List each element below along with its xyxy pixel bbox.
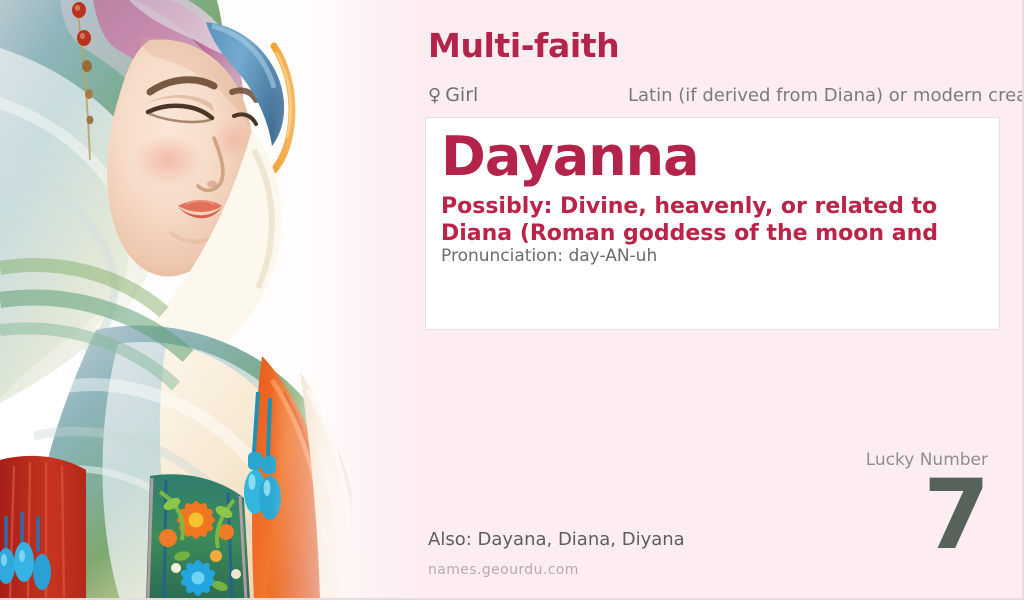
portrait-illustration — [0, 0, 420, 600]
religion-title: Multi-faith — [428, 26, 619, 65]
meta-row: ♀Girl Latin (if derived from Diana) or m… — [428, 84, 1024, 108]
lucky-number-block: Lucky Number 7 — [758, 450, 988, 560]
page-title: Dayanna — [441, 130, 699, 184]
site-url: names.geourdu.com — [428, 562, 579, 578]
origin-text: Latin (if derived from Diana) or modern … — [628, 85, 1024, 106]
gender-label: ♀Girl — [428, 84, 478, 106]
name-meaning: Possibly: Divine, heavenly, or related t… — [441, 194, 1001, 248]
portrait-artwork — [0, 0, 420, 600]
gender-text: Girl — [445, 84, 478, 106]
name-details-panel: Multi-faith ♀Girl Latin (if derived from… — [420, 0, 1024, 600]
alternate-spellings: Also: Dayana, Diana, Diyana — [428, 529, 685, 550]
name-card: Dayanna Possibly: Divine, heavenly, or r… — [425, 117, 1000, 330]
lucky-number-value: 7 — [758, 471, 988, 559]
name-card-page: Multi-faith ♀Girl Latin (if derived from… — [0, 0, 1024, 600]
venus-female-icon: ♀ — [428, 85, 441, 106]
pronunciation-text: Pronunciation: day-AN-uh — [441, 246, 657, 266]
